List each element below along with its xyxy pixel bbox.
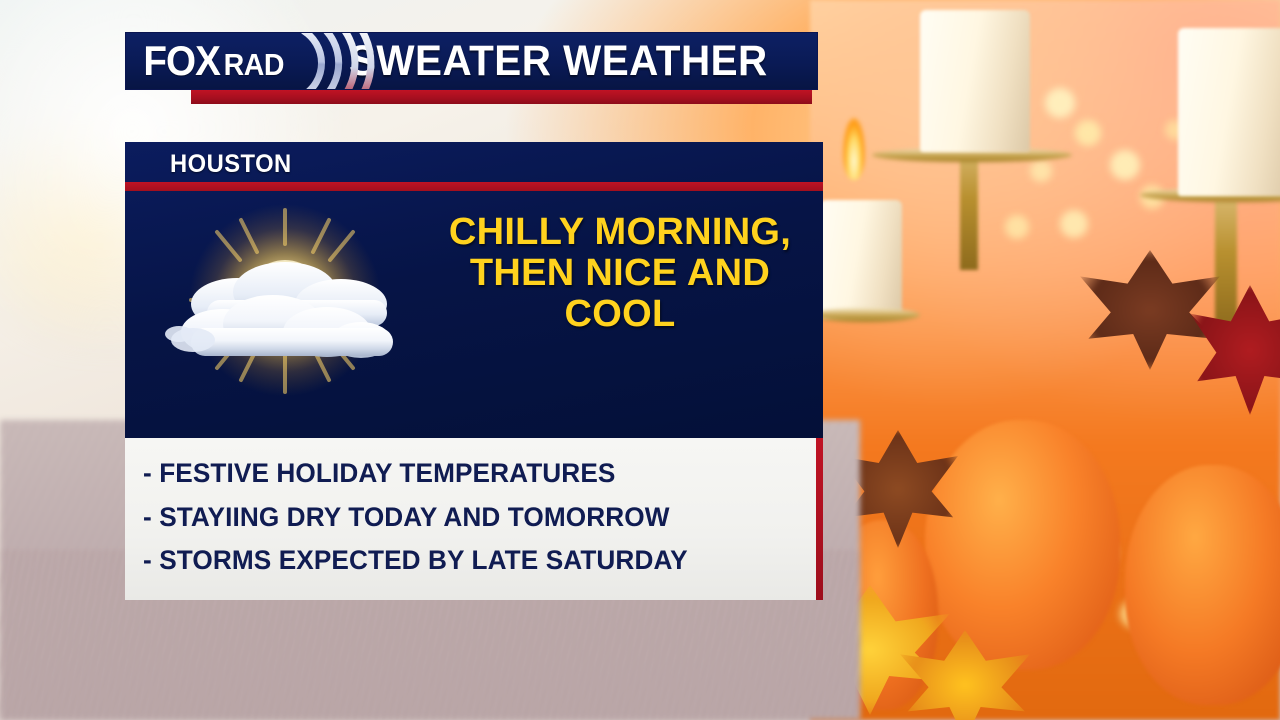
rad-wordmark: RAD bbox=[224, 49, 284, 80]
forecast-headline: CHILLY MORNING, THEN NICE AND COOL bbox=[425, 212, 815, 335]
bokeh-light bbox=[1075, 120, 1101, 146]
bokeh-light bbox=[1060, 210, 1088, 238]
pumpkin bbox=[1125, 465, 1280, 705]
radar-arcs-icon bbox=[294, 32, 414, 90]
bullet-item: - STORMS EXPECTED BY LATE SATURDAY bbox=[143, 539, 803, 583]
candle-holder bbox=[960, 150, 978, 270]
headline-line-1: CHILLY MORNING, bbox=[425, 212, 815, 253]
header-bar: FOX RAD SWEATER WEATHER bbox=[125, 32, 818, 90]
headline-line-2: THEN NICE AND bbox=[425, 253, 815, 294]
bokeh-light bbox=[1030, 160, 1052, 182]
city-red-rule bbox=[125, 182, 823, 191]
bullets-panel-red-edge bbox=[816, 438, 823, 600]
forecast-bullets-panel: - FESTIVE HOLIDAY TEMPERATURES - STAYIIN… bbox=[125, 438, 823, 600]
candle-flame bbox=[843, 118, 865, 180]
bokeh-light bbox=[1005, 215, 1029, 239]
fox-wordmark: FOX bbox=[143, 40, 220, 82]
headline-line-3: COOL bbox=[425, 294, 815, 335]
foxrad-logo: FOX RAD bbox=[126, 40, 287, 82]
candle bbox=[820, 200, 902, 318]
candle-holder-plate bbox=[812, 308, 920, 322]
header-red-stripe bbox=[191, 90, 812, 104]
city-label: HOUSTON bbox=[170, 150, 292, 179]
forecast-panel-navy: HOUSTON bbox=[125, 142, 823, 438]
forecast-panel: HOUSTON bbox=[125, 142, 823, 600]
bullet-item: - STAYIING DRY TODAY AND TOMORROW bbox=[143, 496, 803, 540]
candle bbox=[1178, 28, 1280, 196]
bullet-item: - FESTIVE HOLIDAY TEMPERATURES bbox=[143, 452, 803, 496]
bokeh-light bbox=[1110, 150, 1140, 180]
candle bbox=[920, 10, 1030, 152]
sun-behind-cloud-icon bbox=[145, 200, 425, 415]
candle-holder bbox=[1215, 200, 1237, 330]
bokeh-light bbox=[1045, 88, 1075, 118]
